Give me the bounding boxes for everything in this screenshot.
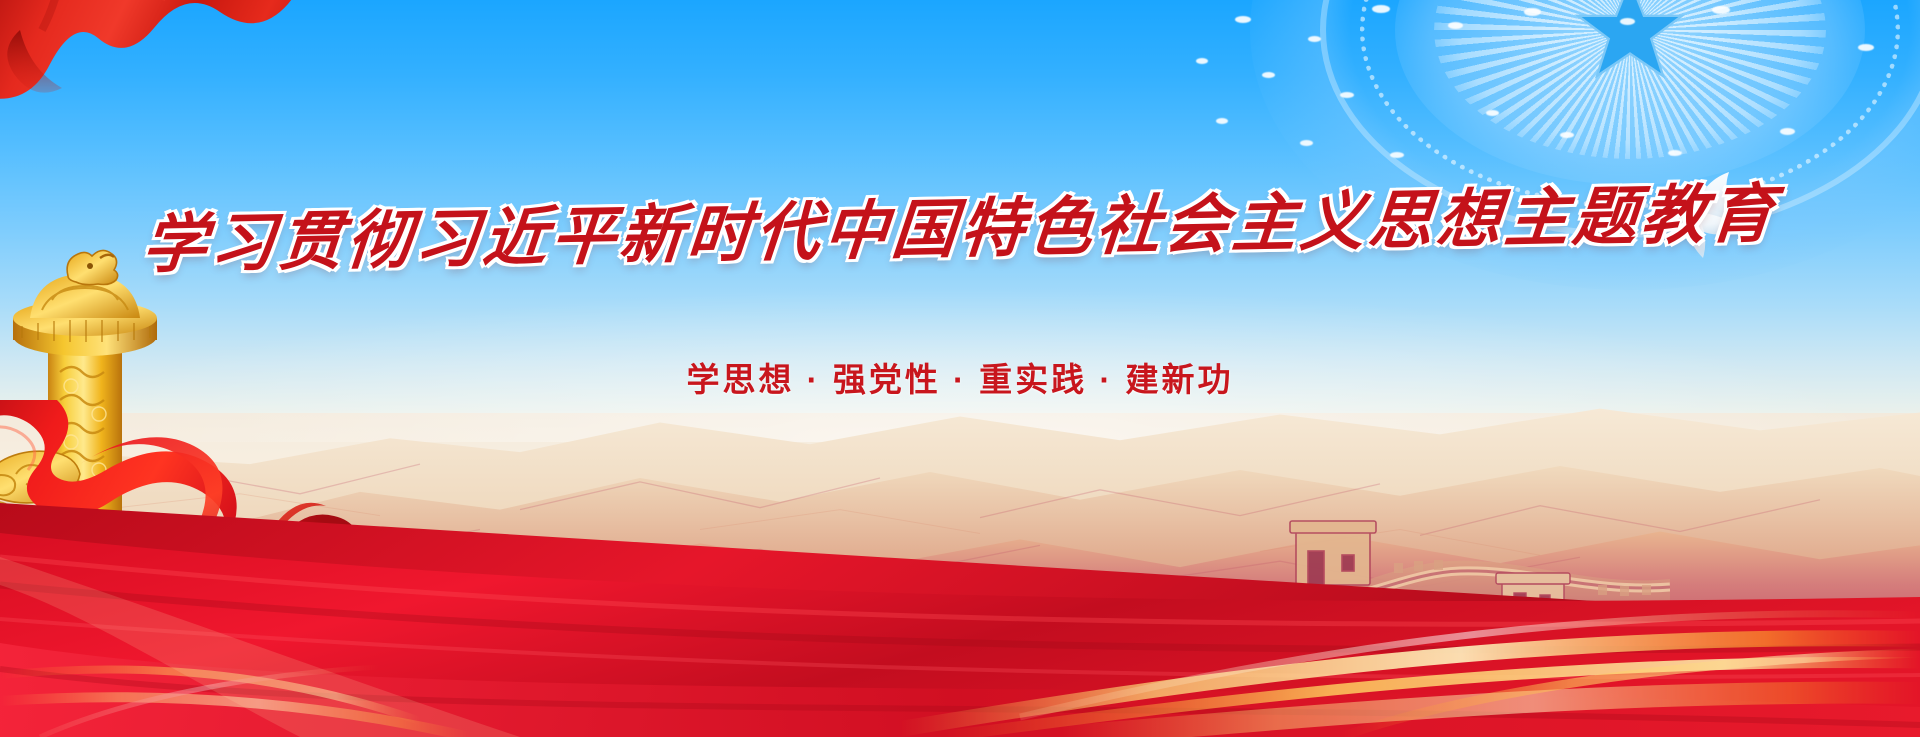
- sky-dot: [1372, 5, 1390, 13]
- sky-dot: [1216, 118, 1228, 124]
- sky-dot: [1448, 22, 1463, 29]
- sky-dot: [1340, 92, 1354, 98]
- sky-dot: [1668, 150, 1682, 156]
- sky-dot: [1262, 72, 1275, 78]
- party-education-banner: 学习贯彻习近平新时代中国特色社会主义思想主题教育 学思想 · 强党性 · 重实践…: [0, 0, 1920, 737]
- golden-huabiao-pillar: [0, 222, 202, 652]
- subline-container: 学思想 · 强党性 · 重实践 · 建新功: [0, 353, 1920, 401]
- sky-dot: [1486, 110, 1499, 116]
- sky-dot: [1560, 132, 1574, 138]
- sky-dot: [1780, 128, 1795, 135]
- sky-dot: [1300, 140, 1313, 146]
- sky-dot: [1196, 58, 1208, 64]
- sky-dot: [1235, 16, 1251, 23]
- headline-container: 学习贯彻习近平新时代中国特色社会主义思想主题教育: [0, 196, 1920, 264]
- sky-dot: [1858, 44, 1874, 51]
- sky-dot: [1390, 152, 1404, 158]
- sky-dot: [1712, 6, 1730, 14]
- sky-dot: [1524, 8, 1541, 16]
- great-wall-illustration: [1050, 469, 1670, 679]
- sky-dot: [1620, 18, 1635, 25]
- page-subtitle: 学思想 · 强党性 · 重实践 · 建新功: [687, 353, 1234, 401]
- sky-dot: [1308, 36, 1321, 42]
